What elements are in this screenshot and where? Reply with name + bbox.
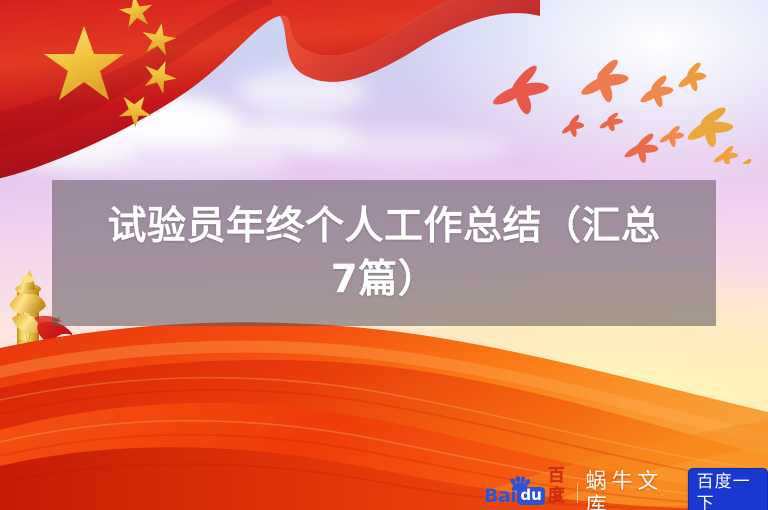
title-overlay-panel: 试验员年终个人工作总结（汇总7篇） xyxy=(52,180,716,326)
baidu-logo[interactable]: Bai du 百度 xyxy=(484,480,569,506)
poster-canvas: 试验员年终个人工作总结（汇总7篇） Bai du 百度 蜗牛文库 百度一下 xyxy=(0,0,768,510)
page-title-line-2: 7篇） xyxy=(331,257,438,302)
site-name: 蜗牛文库 xyxy=(585,469,675,510)
flying-birds-flock xyxy=(470,44,768,164)
brand-divider xyxy=(577,483,579,503)
search-button[interactable]: 百度一下 xyxy=(688,468,768,510)
birds-svg xyxy=(470,44,768,164)
flag-svg xyxy=(0,0,540,200)
chinese-flag xyxy=(0,0,540,200)
baidu-logo-chinese: 百度 xyxy=(548,466,569,506)
footer-brand-bar: Bai du 百度 蜗牛文库 百度一下 xyxy=(484,478,768,508)
paw-print-icon xyxy=(509,476,531,491)
page-title-line-1: 试验员年终个人工作总结（汇总 xyxy=(107,204,660,249)
page-title: 试验员年终个人工作总结（汇总7篇） xyxy=(66,200,702,306)
